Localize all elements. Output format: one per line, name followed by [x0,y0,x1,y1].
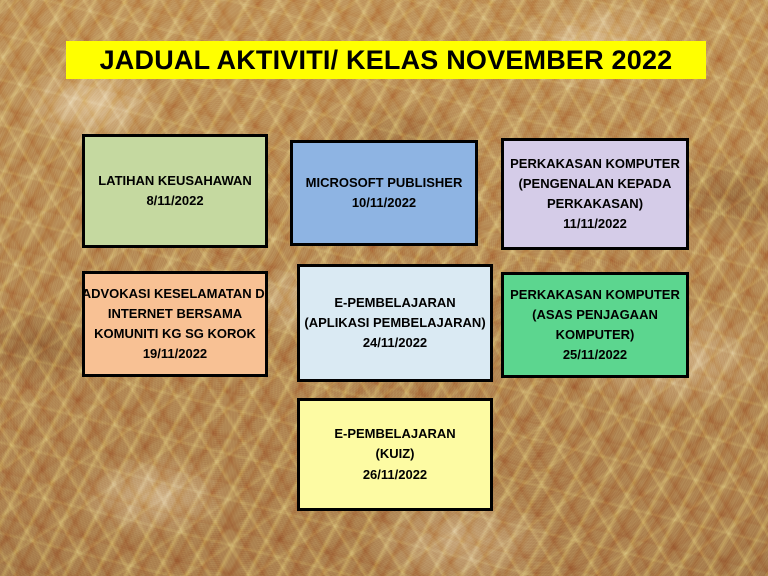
title-banner: JADUAL AKTIVITI/ KELAS NOVEMBER 2022 [66,41,706,79]
activity-card-line: (ASAS PENJAGAAN [532,305,658,325]
activity-card-date: 25/11/2022 [563,345,627,365]
activity-card-line: E-PEMBELAJARAN [334,424,455,444]
activity-card-line: LATIHAN KEUSAHAWAN [98,171,252,191]
activity-card-line: (PENGENALAN KEPADA [519,174,672,194]
activity-card-date: 8/11/2022 [146,191,203,211]
page-title: JADUAL AKTIVITI/ KELAS NOVEMBER 2022 [100,47,673,74]
activity-card-perkakasan-komputer-pengenalan: PERKAKASAN KOMPUTER (PENGENALAN KEPADA P… [501,138,689,250]
activity-card-line: KOMPUTER) [556,325,635,345]
activity-card-line: PERKAKASAN KOMPUTER [510,154,680,174]
activity-card-line: ADVOKASI KESELAMATAN DI [82,284,269,304]
slide-canvas: JADUAL AKTIVITI/ KELAS NOVEMBER 2022 LAT… [0,0,768,576]
activity-card-line: PERKAKASAN) [547,194,643,214]
activity-card-e-pembelajaran-aplikasi: E-PEMBELAJARAN (APLIKASI PEMBELAJARAN) 2… [297,264,493,382]
activity-card-line: (KUIZ) [376,444,415,464]
activity-card-date: 10/11/2022 [352,193,416,213]
activity-card-microsoft-publisher: MICROSOFT PUBLISHER 10/11/2022 [290,140,478,246]
activity-card-date: 11/11/2022 [563,214,627,234]
activity-card-e-pembelajaran-kuiz: E-PEMBELAJARAN (KUIZ) 26/11/2022 [297,398,493,511]
activity-card-line: PERKAKASAN KOMPUTER [510,285,680,305]
activity-card-perkakasan-komputer-asas-penjagaan: PERKAKASAN KOMPUTER (ASAS PENJAGAAN KOMP… [501,272,689,378]
activity-card-line: MICROSOFT PUBLISHER [306,173,463,193]
activity-card-latihan-keusahawan: LATIHAN KEUSAHAWAN 8/11/2022 [82,134,268,248]
activity-card-line: (APLIKASI PEMBELAJARAN) [304,313,485,333]
activity-card-line: E-PEMBELAJARAN [334,293,455,313]
activity-card-line: KOMUNITI KG SG KOROK [94,324,256,344]
activity-card-date: 19/11/2022 [143,344,207,364]
activity-card-advokasi-keselamatan-internet: ADVOKASI KESELAMATAN DI INTERNET BERSAMA… [82,271,268,377]
activity-card-date: 24/11/2022 [363,333,427,353]
activity-card-date: 26/11/2022 [363,465,427,485]
activity-card-line: INTERNET BERSAMA [108,304,242,324]
